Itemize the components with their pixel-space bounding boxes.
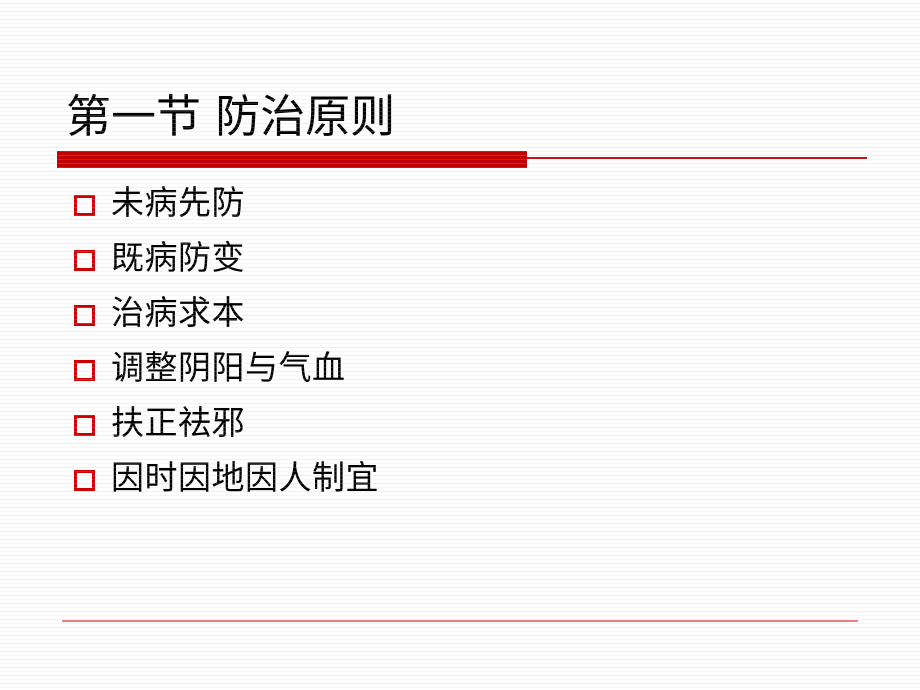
square-bullet-icon — [74, 195, 95, 216]
square-bullet-icon — [74, 305, 95, 326]
list-item: 未病先防 — [0, 182, 920, 237]
list-item-label: 未病先防 — [111, 182, 245, 224]
list-item: 既病防变 — [0, 237, 920, 292]
list-item: 治病求本 — [0, 292, 920, 347]
title-accent-rule — [527, 157, 867, 159]
bullet-list: 未病先防 既病防变 治病求本 调整阴阳与气血 扶正祛邪 因时因地因人制宜 — [0, 182, 920, 512]
list-item: 扶正祛邪 — [0, 402, 920, 457]
footer-divider — [62, 620, 858, 622]
list-item-label: 治病求本 — [111, 292, 245, 334]
square-bullet-icon — [74, 470, 95, 491]
list-item: 调整阴阳与气血 — [0, 347, 920, 402]
square-bullet-icon — [74, 360, 95, 381]
square-bullet-icon — [74, 250, 95, 271]
list-item-label: 调整阴阳与气血 — [111, 347, 346, 389]
list-item-label: 因时因地因人制宜 — [111, 457, 379, 499]
presentation-slide: 第一节 防治原则 未病先防 既病防变 治病求本 调整阴阳与气血 扶正祛邪 因时因… — [0, 0, 920, 690]
page-title: 第一节 防治原则 — [66, 90, 395, 144]
square-bullet-icon — [74, 415, 95, 436]
title-accent-bar — [57, 151, 527, 168]
list-item-label: 既病防变 — [111, 237, 245, 279]
list-item: 因时因地因人制宜 — [0, 457, 920, 512]
list-item-label: 扶正祛邪 — [111, 402, 245, 444]
